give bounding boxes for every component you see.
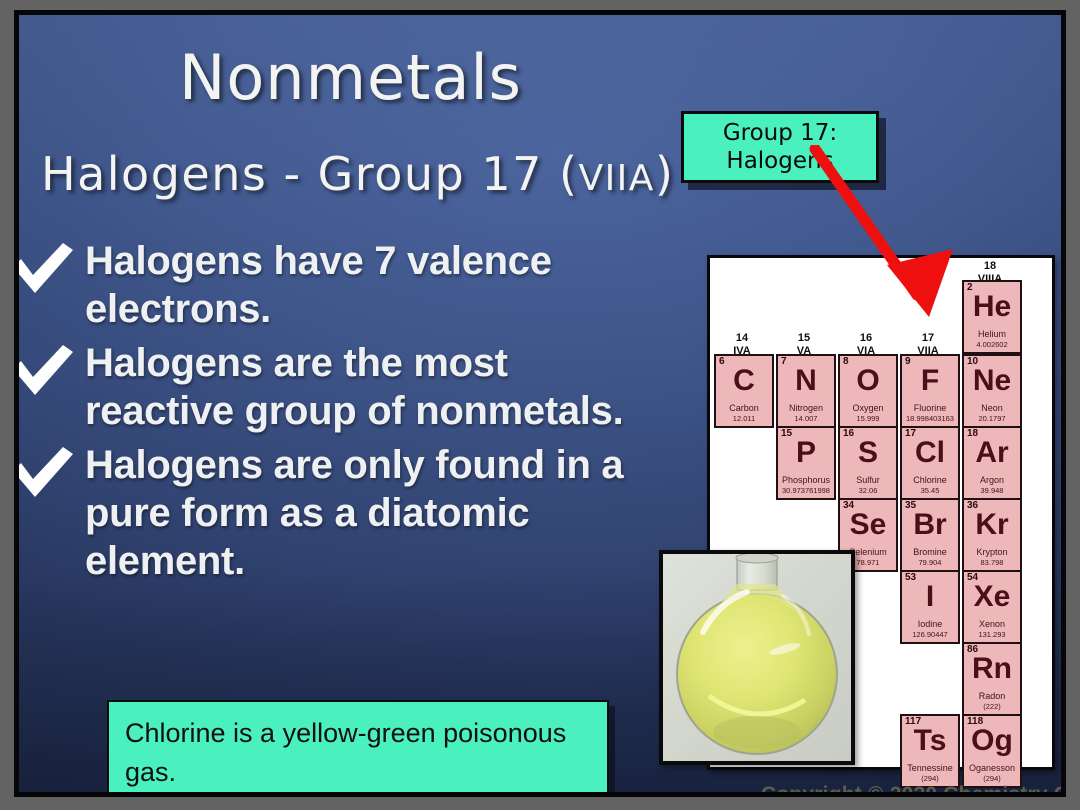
list-item: Halogens are the most reactive group of … <box>19 339 649 435</box>
element-name: Oxygen <box>840 403 896 413</box>
element-mass: 32.06 <box>840 486 896 495</box>
chlorine-note-callout: Chlorine is a yellow-green poisonous gas… <box>107 700 609 795</box>
element-name: Oganesson <box>964 763 1020 773</box>
element-cell-br: 35BrBromine79.904 <box>900 498 960 572</box>
bullet-text: Halogens are the most reactive group of … <box>85 339 649 435</box>
element-name: Neon <box>964 403 1020 413</box>
element-name: Phosphorus <box>778 475 834 485</box>
element-cell-xe: 54XeXenon131.293 <box>962 570 1022 644</box>
bullet-text: Halogens have 7 valence electrons. <box>85 237 649 333</box>
element-name: Carbon <box>716 403 772 413</box>
element-symbol: N <box>778 366 834 396</box>
element-mass: 12.011 <box>716 414 772 423</box>
element-symbol: He <box>964 292 1020 322</box>
element-mass: 131.293 <box>964 630 1020 639</box>
chlorine-flask-photo <box>659 550 855 765</box>
element-mass: 39.948 <box>964 486 1020 495</box>
page-subtitle: Halogens - Group 17 (VIIA) <box>41 147 674 201</box>
element-mass: 18.998403163 <box>902 414 958 423</box>
element-mass: (222) <box>964 702 1020 711</box>
group-number: 15 <box>775 332 833 345</box>
list-item: Halogens have 7 valence electrons. <box>19 237 649 333</box>
element-cell-ar: 18ArArgon39.948 <box>962 426 1022 500</box>
slide-frame: Nonmetals Halogens - Group 17 (VIIA) Hal… <box>14 10 1066 797</box>
element-symbol: Ne <box>964 366 1020 396</box>
element-cell-kr: 36KrKrypton83.798 <box>962 498 1022 572</box>
check-icon <box>14 241 85 297</box>
element-symbol: O <box>840 366 896 396</box>
element-mass: 83.798 <box>964 558 1020 567</box>
element-cell-i: 53IIodine126.90447 <box>900 570 960 644</box>
bullet-list: Halogens have 7 valence electrons. Halog… <box>19 237 649 591</box>
element-mass: 126.90447 <box>902 630 958 639</box>
element-cell-rn: 86RnRadon(222) <box>962 642 1022 716</box>
element-name: Krypton <box>964 547 1020 557</box>
subtitle-roman: VIIA <box>578 158 655 199</box>
element-cell-f: 9FFluorine18.998403163 <box>900 354 960 428</box>
element-mass: 35.45 <box>902 486 958 495</box>
element-name: Radon <box>964 691 1020 701</box>
element-symbol: S <box>840 438 896 468</box>
element-cell-ts: 117TsTennessine(294) <box>900 714 960 788</box>
element-symbol: Rn <box>964 654 1020 684</box>
element-symbol: Br <box>902 510 958 540</box>
element-mass: 79.904 <box>902 558 958 567</box>
element-name: Bromine <box>902 547 958 557</box>
element-symbol: Og <box>964 726 1020 756</box>
element-symbol: C <box>716 366 772 396</box>
element-name: Argon <box>964 475 1020 485</box>
element-mass: (294) <box>902 774 958 783</box>
callout-line-2: Halogens <box>726 147 833 175</box>
element-symbol: Ar <box>964 438 1020 468</box>
subtitle-main: Halogens - Group 17 ( <box>41 147 578 201</box>
page-title: Nonmetals <box>179 41 522 114</box>
element-name: Nitrogen <box>778 403 834 413</box>
element-mass: 30.973761998 <box>778 486 834 495</box>
group-number: 17 <box>899 332 957 345</box>
element-cell-p: 15PPhosphorus30.973761998 <box>776 426 836 500</box>
element-symbol: I <box>902 582 958 612</box>
element-name: Xenon <box>964 619 1020 629</box>
callout-line-1: Group 17: <box>723 119 837 147</box>
element-cell-n: 7NNitrogen14.007 <box>776 354 836 428</box>
group-number: 18 <box>961 260 1019 273</box>
element-cell-ne: 10NeNeon20.1797 <box>962 354 1022 428</box>
element-mass: 15.999 <box>840 414 896 423</box>
element-name: Chlorine <box>902 475 958 485</box>
list-item: Halogens are only found in a pure form a… <box>19 441 649 585</box>
subtitle-close: ) <box>655 147 674 201</box>
check-icon <box>14 445 85 501</box>
element-mass: 20.1797 <box>964 414 1020 423</box>
element-cell-cl: 17ClChlorine35.45 <box>900 426 960 500</box>
element-cell-og: 118OgOganesson(294) <box>962 714 1022 788</box>
element-symbol: F <box>902 366 958 396</box>
group-number: 14 <box>713 332 771 345</box>
element-symbol: Se <box>840 510 896 540</box>
element-name: Sulfur <box>840 475 896 485</box>
element-cell-o: 8OOxygen15.999 <box>838 354 898 428</box>
element-mass: 4.002602 <box>964 340 1020 349</box>
element-mass: 14.007 <box>778 414 834 423</box>
element-name: Helium <box>964 329 1020 339</box>
element-name: Fluorine <box>902 403 958 413</box>
element-name: Iodine <box>902 619 958 629</box>
element-symbol: Kr <box>964 510 1020 540</box>
element-symbol: P <box>778 438 834 468</box>
bullet-text: Halogens are only found in a pure form a… <box>85 441 649 585</box>
element-symbol: Ts <box>902 726 958 756</box>
group-number: 16 <box>837 332 895 345</box>
copyright-text: Copyright © 2020 Chemistry Corner <box>761 783 1066 797</box>
element-mass: (294) <box>964 774 1020 783</box>
element-symbol: Xe <box>964 582 1020 612</box>
element-name: Tennessine <box>902 763 958 773</box>
flask-illustration <box>663 554 851 761</box>
element-cell-he: 2HeHelium4.002602 <box>962 280 1022 354</box>
element-cell-c: 6CCarbon12.011 <box>714 354 774 428</box>
check-icon <box>14 343 85 399</box>
group17-callout: Group 17: Halogens <box>681 111 879 183</box>
element-cell-s: 16SSulfur32.06 <box>838 426 898 500</box>
slide-root: Nonmetals Halogens - Group 17 (VIIA) Hal… <box>0 0 1080 810</box>
element-symbol: Cl <box>902 438 958 468</box>
